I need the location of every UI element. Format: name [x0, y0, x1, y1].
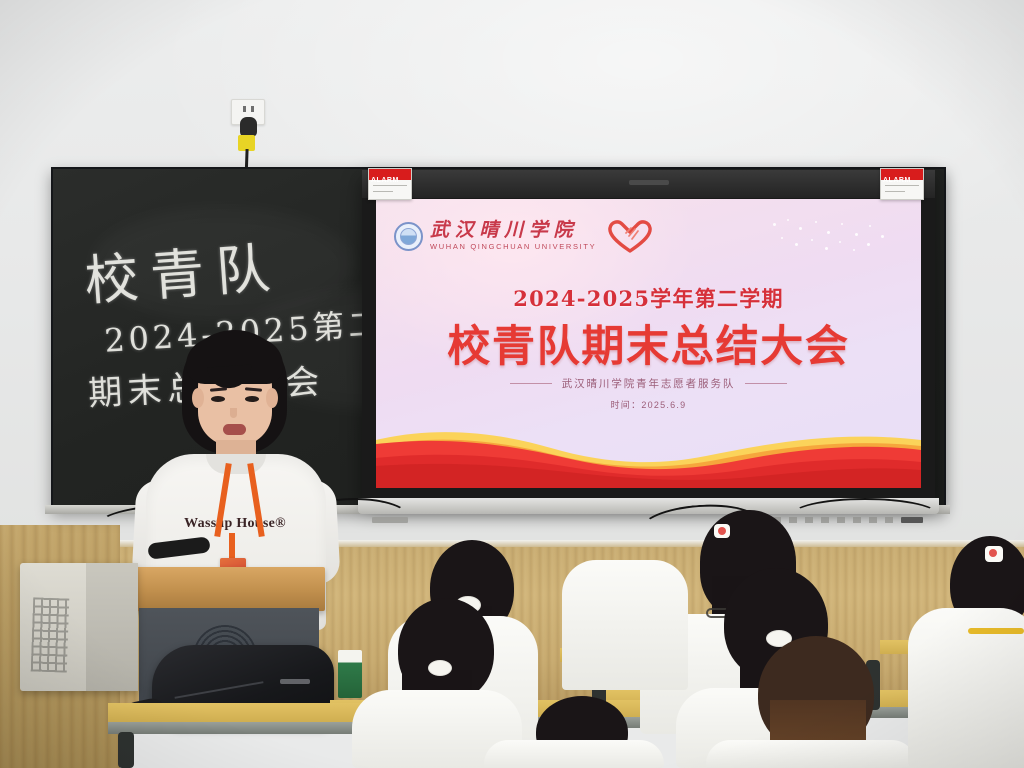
heart-hand-icon: [607, 219, 653, 253]
eye-left: [211, 396, 225, 402]
t-shirt-text: Wassup House®: [120, 516, 350, 532]
ear-left: [192, 388, 204, 408]
university-logo: 武汉晴川学院 WUHAN QINGCHUAN UNIVERSITY: [394, 219, 653, 253]
sticker-body: [881, 180, 923, 201]
classroom-photo: 校青队 2024-2025第二学期 期末总结大会: [0, 0, 1024, 768]
presentation-slide: 武汉晴川学院 WUHAN QINGCHUAN UNIVERSITY 2024-2…: [376, 199, 921, 488]
sparkle-decoration: [769, 217, 899, 257]
backpack-logo: [280, 679, 310, 684]
warning-sticker-right: ALARM: [880, 168, 924, 200]
slide-organization-line: 武汉晴川学院青年志愿者服务队: [376, 376, 921, 391]
tv-sensor: [629, 180, 669, 185]
backpack-zipper: [175, 681, 264, 699]
podium-top: [131, 567, 325, 611]
power-plug: [240, 117, 257, 137]
rule-left: [510, 383, 552, 384]
mouth: [223, 424, 246, 435]
hair-clip: [714, 524, 730, 538]
university-name-en: WUHAN QINGCHUAN UNIVERSITY: [430, 243, 596, 251]
chalk-text-line-1: 校青队: [81, 223, 284, 316]
speaker-grille: [31, 597, 70, 672]
university-name-block: 武汉晴川学院 WUHAN QINGCHUAN UNIVERSITY: [430, 221, 596, 251]
sticker-body: [369, 180, 411, 201]
hair-fringe: [186, 338, 283, 384]
hair-scrunchie: [428, 660, 452, 676]
yellow-lanyard: [968, 628, 1024, 634]
socket-hole-left: [243, 106, 246, 112]
ear-right: [266, 388, 278, 408]
slide-date: 时间：2025.6.9: [376, 398, 921, 411]
drink-carton: [338, 650, 362, 698]
university-name-cn: 武汉晴川学院: [430, 221, 596, 240]
eye-right: [245, 396, 259, 402]
nose: [230, 408, 237, 418]
wave-decoration: [376, 414, 921, 488]
console-face: [86, 563, 138, 691]
sticker-header: ALARM: [369, 169, 411, 180]
rule-right: [745, 383, 787, 384]
organization-name: 武汉晴川学院青年志愿者服务队: [562, 376, 735, 391]
chair-post: [118, 732, 134, 768]
socket-hole-right: [251, 106, 254, 112]
cable: [790, 498, 940, 534]
hair-clip: [985, 546, 1003, 562]
slide-subtitle: 2024-2025学年第二学期: [376, 283, 921, 313]
university-seal-icon: [394, 222, 423, 251]
slide-main-title: 校青队期末总结大会: [376, 312, 921, 374]
sticker-header: ALARM: [881, 169, 923, 180]
lanyard-strap-center: [229, 533, 235, 559]
warning-sticker-left: ALARM: [368, 168, 412, 200]
